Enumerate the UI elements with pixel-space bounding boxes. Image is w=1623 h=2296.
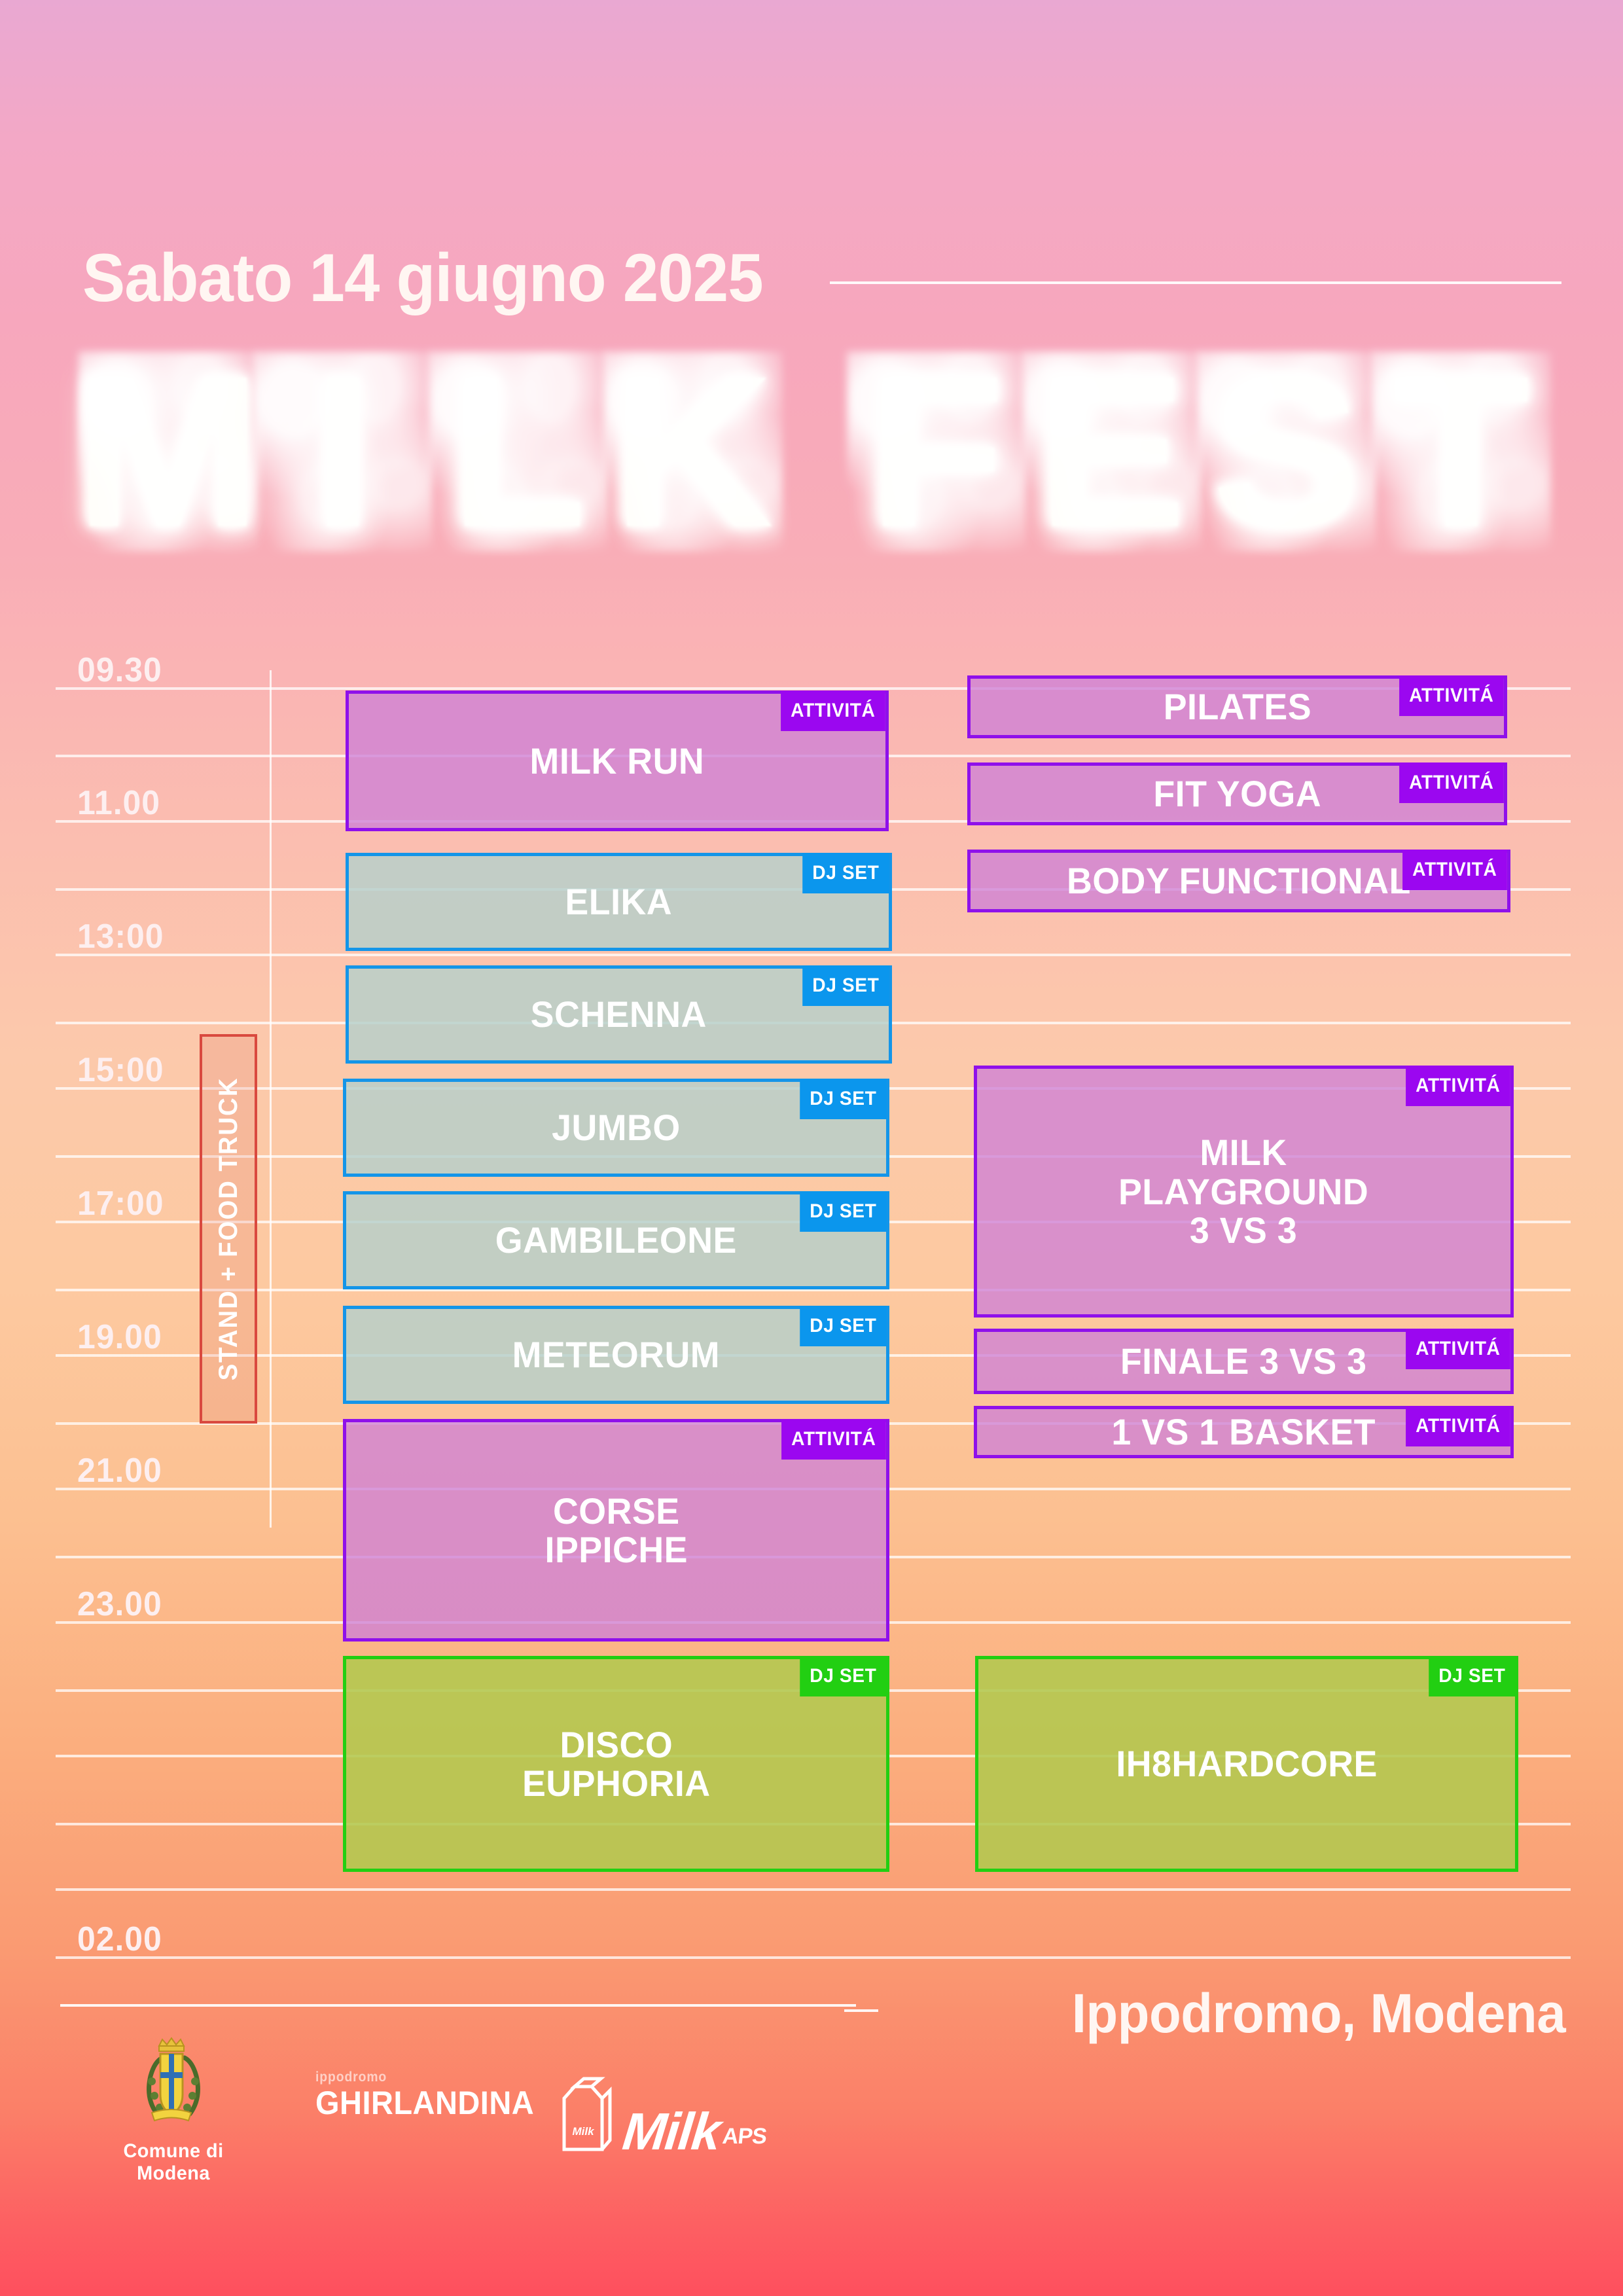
venue-label: Ippodromo, Modena <box>1072 1982 1565 2045</box>
time-label: 09.30 <box>77 651 162 690</box>
event-title: IH8HARDCORE <box>1116 1744 1378 1783</box>
event-title: ELIKA <box>565 882 673 921</box>
event-date: Sabato 14 giugno 2025 <box>82 240 763 317</box>
event-badge: DJ SET <box>1429 1656 1516 1696</box>
cloud-letter-glyph: S <box>1199 344 1374 560</box>
event-title: BODY FUNCTIONAL <box>1067 861 1411 900</box>
grid-hline <box>56 1888 1571 1891</box>
stand-food-truck-label: STAND + FOOD TRUCK <box>214 1077 243 1381</box>
milk-fest-logo: MILKFEST <box>72 314 1558 589</box>
cloud-letter-m: M <box>84 344 253 560</box>
footer-rule <box>60 2004 856 2007</box>
event-title: MILK PLAYGROUND 3 VS 3 <box>1118 1133 1368 1249</box>
grid-hline <box>56 954 1571 956</box>
cloud-letter-glyph: I <box>255 344 431 560</box>
cloud-letter-t: T <box>1377 344 1546 560</box>
event-block[interactable]: BODY FUNCTIONALATTIVITÁ <box>967 850 1510 912</box>
event-title: CORSE IPPICHE <box>544 1492 687 1570</box>
time-label: 15:00 <box>77 1050 164 1090</box>
milk-carton-icon: Milk <box>558 2075 614 2153</box>
event-badge: ATTIVITÁ <box>1400 675 1504 716</box>
cloud-letter-s: S <box>1202 344 1371 560</box>
milk-wordmark: Milk <box>620 2109 722 2153</box>
cloud-wordmark: MILKFEST <box>72 314 1558 589</box>
event-title: DISCO EUPHORIA <box>522 1725 711 1803</box>
event-block[interactable]: JUMBODJ SET <box>343 1079 889 1177</box>
cloud-letter-glyph: T <box>1374 344 1549 560</box>
event-badge: DJ SET <box>800 1079 887 1119</box>
cloud-letter-glyph: E <box>1024 344 1199 560</box>
event-block[interactable]: ELIKADJ SET <box>346 853 892 951</box>
event-block[interactable]: FINALE 3 VS 3ATTIVITÁ <box>974 1329 1514 1394</box>
modena-crest-icon <box>137 2036 209 2134</box>
grid-hline <box>56 1956 1571 1959</box>
event-block[interactable]: PILATESATTIVITÁ <box>967 675 1507 738</box>
event-block[interactable]: GAMBILEONEDJ SET <box>343 1191 889 1289</box>
cloud-letter-l: L <box>434 344 603 560</box>
sponsor-logos: Comune di Modena ippodromo GHIRLANDINA M… <box>60 2036 859 2212</box>
ghirlandina-wordmark: GHIRLANDINA <box>315 2084 518 2122</box>
cloud-letter-glyph: L <box>430 344 605 560</box>
event-badge: ATTIVITÁ <box>1400 762 1504 803</box>
cloud-letter-glyph: M <box>80 344 256 560</box>
milk-aps-logo: Milk Milk APS <box>558 2055 774 2153</box>
event-title: MILK RUN <box>530 742 705 780</box>
event-block[interactable]: METEORUMDJ SET <box>343 1306 889 1404</box>
event-badge: DJ SET <box>800 1656 887 1696</box>
venue-dash <box>844 2009 878 2012</box>
event-title: METEORUM <box>512 1335 720 1374</box>
event-badge: DJ SET <box>803 853 889 893</box>
time-label: 19.00 <box>77 1318 162 1357</box>
event-title: FIT YOGA <box>1153 774 1321 813</box>
event-badge: DJ SET <box>800 1191 887 1232</box>
event-title: GAMBILEONE <box>495 1221 737 1259</box>
schedule-grid: 09.3011.0013:0015:0017:0019.0021.0023.00… <box>0 668 1623 1970</box>
event-block[interactable]: 1 VS 1 BASKETATTIVITÁ <box>974 1406 1514 1458</box>
time-label: 21.00 <box>77 1451 162 1490</box>
grid-vertical-line <box>270 670 272 1528</box>
modena-logo-label: Comune di Modena <box>101 2140 246 2185</box>
event-badge: ATTIVITÁ <box>781 691 885 731</box>
cloud-letter-k: K <box>609 344 777 560</box>
event-badge: ATTIVITÁ <box>1406 1406 1510 1446</box>
event-block[interactable]: FIT YOGAATTIVITÁ <box>967 762 1507 825</box>
event-badge: DJ SET <box>800 1306 887 1346</box>
header-rule <box>830 281 1561 284</box>
comune-di-modena-logo: Comune di Modena <box>98 2036 249 2185</box>
cloud-letter-glyph: F <box>849 344 1024 560</box>
time-label: 13:00 <box>77 917 164 956</box>
time-label: 11.00 <box>77 783 160 823</box>
event-block[interactable]: IH8HARDCOREDJ SET <box>975 1656 1518 1872</box>
cloud-letter-i: I <box>259 344 427 560</box>
cloud-letter-e: E <box>1027 344 1196 560</box>
svg-text:Milk: Milk <box>572 2125 595 2138</box>
ghirlandina-logo: ippodromo GHIRLANDINA <box>315 2070 531 2122</box>
time-label: 23.00 <box>77 1585 162 1624</box>
event-title: 1 VS 1 BASKET <box>1112 1412 1376 1451</box>
wordmark-space <box>783 448 846 455</box>
stand-food-truck-block: STAND + FOOD TRUCK <box>200 1034 257 1424</box>
cloud-letter-glyph: K <box>605 344 781 560</box>
event-block[interactable]: MILK RUNATTIVITÁ <box>346 691 889 831</box>
event-badge: ATTIVITÁ <box>1406 1066 1510 1106</box>
time-label: 17:00 <box>77 1184 164 1223</box>
date-header: Sabato 14 giugno 2025 <box>82 242 1561 314</box>
time-label: 02.00 <box>77 1920 162 1959</box>
event-title: SCHENNA <box>531 995 707 1033</box>
event-badge: ATTIVITÁ <box>1403 850 1507 890</box>
event-badge: ATTIVITÁ <box>1406 1329 1510 1369</box>
event-title: FINALE 3 VS 3 <box>1120 1342 1367 1380</box>
event-badge: DJ SET <box>803 965 889 1006</box>
event-title: PILATES <box>1163 687 1311 726</box>
event-badge: ATTIVITÁ <box>782 1419 886 1460</box>
poster-root: Sabato 14 giugno 2025 MILKFEST 09.3011.0… <box>0 0 1623 2296</box>
cloud-letter-f: F <box>852 344 1021 560</box>
event-block[interactable]: DISCO EUPHORIADJ SET <box>343 1656 889 1872</box>
milk-aps-suffix: APS <box>721 2124 768 2149</box>
event-block[interactable]: CORSE IPPICHEATTIVITÁ <box>343 1419 889 1641</box>
event-title: JUMBO <box>552 1108 681 1147</box>
ghirlandina-eyebrow: ippodromo <box>315 2070 514 2085</box>
event-block[interactable]: SCHENNADJ SET <box>346 965 892 1064</box>
event-block[interactable]: MILK PLAYGROUND 3 VS 3ATTIVITÁ <box>974 1066 1514 1318</box>
